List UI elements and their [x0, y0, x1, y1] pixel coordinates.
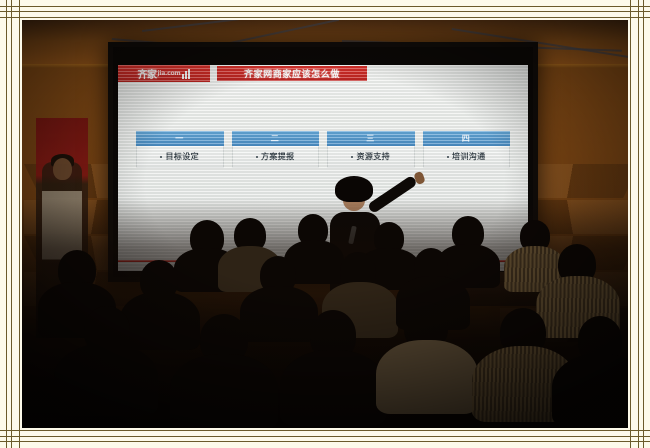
frame-rule-top-inner: [0, 11, 650, 12]
audience-shoulders: [120, 292, 200, 350]
brand-domain: jia.com: [158, 70, 181, 77]
bullet-icon: [447, 156, 449, 158]
signal-bars-icon: [182, 69, 190, 79]
frame-rule-right-inner: [638, 0, 639, 448]
slide-column-2: 二 方案提报: [232, 131, 320, 168]
slide-column-3: 三 资源支持: [327, 131, 415, 168]
column-number-header: 四: [423, 131, 511, 146]
slide-header: 齐家 jia.com 齐家网商家应该怎么做: [118, 65, 528, 82]
frame-rule-top-edge: [0, 17, 650, 18]
slide-column-1: 一 目标设定: [136, 131, 224, 168]
column-number-header: 三: [327, 131, 415, 146]
column-body: 培训沟通: [423, 146, 511, 168]
column-label: 目标设定: [165, 151, 199, 162]
slide-title: 齐家网商家应该怎么做: [244, 67, 340, 80]
column-body: 方案提报: [232, 146, 320, 168]
standee-figure-head: [53, 158, 72, 180]
column-label: 培训沟通: [452, 151, 486, 162]
slide-title-bar: 齐家网商家应该怎么做: [217, 66, 367, 81]
slide-columns: 一 目标设定 二 方案提报: [136, 131, 510, 168]
frame-rule-left-inner: [11, 0, 12, 448]
photo-frame: 齐家 jia.com 齐家网商家应该怎么做 一: [0, 0, 650, 448]
frame-rule-bottom-inner: [0, 436, 650, 437]
audience-shoulders: [552, 354, 628, 426]
brand-logo: 齐家 jia.com: [118, 65, 210, 82]
column-number-header: 一: [136, 131, 224, 146]
slide-column-4: 四 培训沟通: [423, 131, 511, 168]
frame-rule-left-outer: [6, 0, 7, 448]
bullet-icon: [256, 156, 258, 158]
column-number: 四: [462, 133, 471, 144]
audience: [22, 198, 628, 428]
brand-name-cn: 齐家: [138, 66, 157, 81]
column-number: 二: [271, 133, 280, 144]
column-number: 三: [366, 133, 375, 144]
audience-shoulders: [280, 350, 386, 426]
frame-rule-top-outer: [0, 6, 650, 7]
column-number-header: 二: [232, 131, 320, 146]
bullet-icon: [160, 156, 162, 158]
audience-shoulders: [376, 340, 478, 414]
column-number: 一: [175, 133, 184, 144]
bullet-icon: [351, 156, 353, 158]
column-label: 方案提报: [261, 151, 295, 162]
column-label: 资源支持: [356, 151, 390, 162]
frame-rule-right-edge: [630, 0, 631, 448]
frame-rule-bottom-outer: [0, 441, 650, 442]
frame-rule-left-edge: [19, 0, 20, 448]
photograph: 齐家 jia.com 齐家网商家应该怎么做 一: [22, 20, 628, 428]
audience-shoulders: [240, 286, 318, 342]
audience-shoulders: [54, 344, 158, 416]
frame-rule-bottom-edge: [0, 430, 650, 431]
audience-shoulders: [170, 354, 278, 428]
frame-rule-right-outer: [643, 0, 644, 448]
column-body: 目标设定: [136, 146, 224, 168]
column-body: 资源支持: [327, 146, 415, 168]
